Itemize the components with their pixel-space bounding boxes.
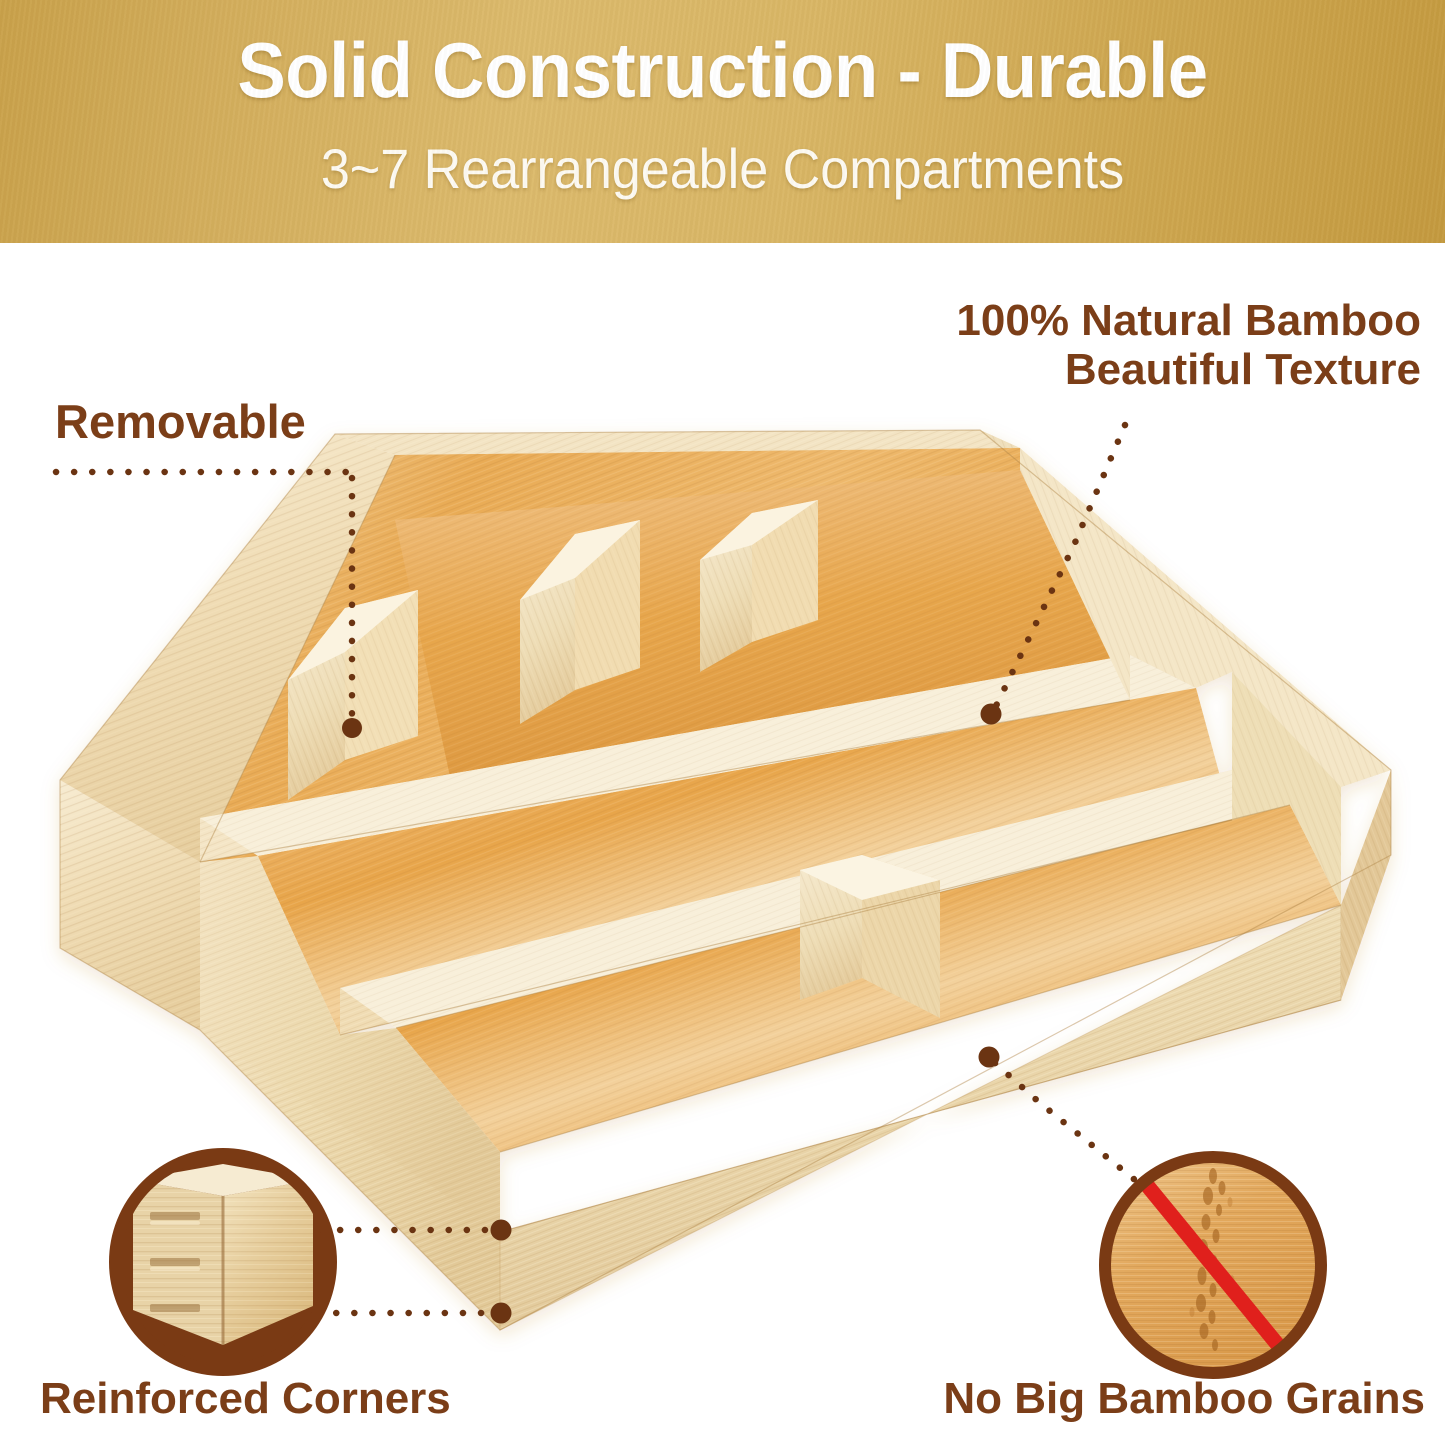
- callout-natural-bamboo-line1: 100% Natural Bamboo: [956, 296, 1421, 345]
- dot-corner-bottom: [491, 1303, 512, 1324]
- callout-natural-bamboo: 100% Natural Bamboo Beautiful Texture: [956, 296, 1421, 395]
- banner-subtitle: 3~7 Rearrangeable Compartments: [51, 140, 1395, 199]
- inset-reinforced-corner: [115, 1154, 331, 1370]
- callout-no-big-bamboo-grains: No Big Bamboo Grains: [943, 1374, 1425, 1423]
- dot-corner-top: [491, 1220, 512, 1241]
- inset-no-big-grains: [1105, 1157, 1321, 1373]
- callout-natural-bamboo-line2: Beautiful Texture: [956, 345, 1421, 394]
- banner-title: Solid Construction - Durable: [51, 30, 1395, 112]
- dot-removable: [342, 718, 362, 738]
- dot-bamboo: [981, 704, 1002, 725]
- infographic-canvas: Solid Construction - Durable 3~7 Rearran…: [0, 0, 1445, 1431]
- callout-removable: Removable: [55, 396, 306, 449]
- dot-grains: [979, 1047, 1000, 1068]
- header-banner: Solid Construction - Durable 3~7 Rearran…: [0, 0, 1445, 243]
- callout-reinforced-corners: Reinforced Corners: [40, 1374, 451, 1423]
